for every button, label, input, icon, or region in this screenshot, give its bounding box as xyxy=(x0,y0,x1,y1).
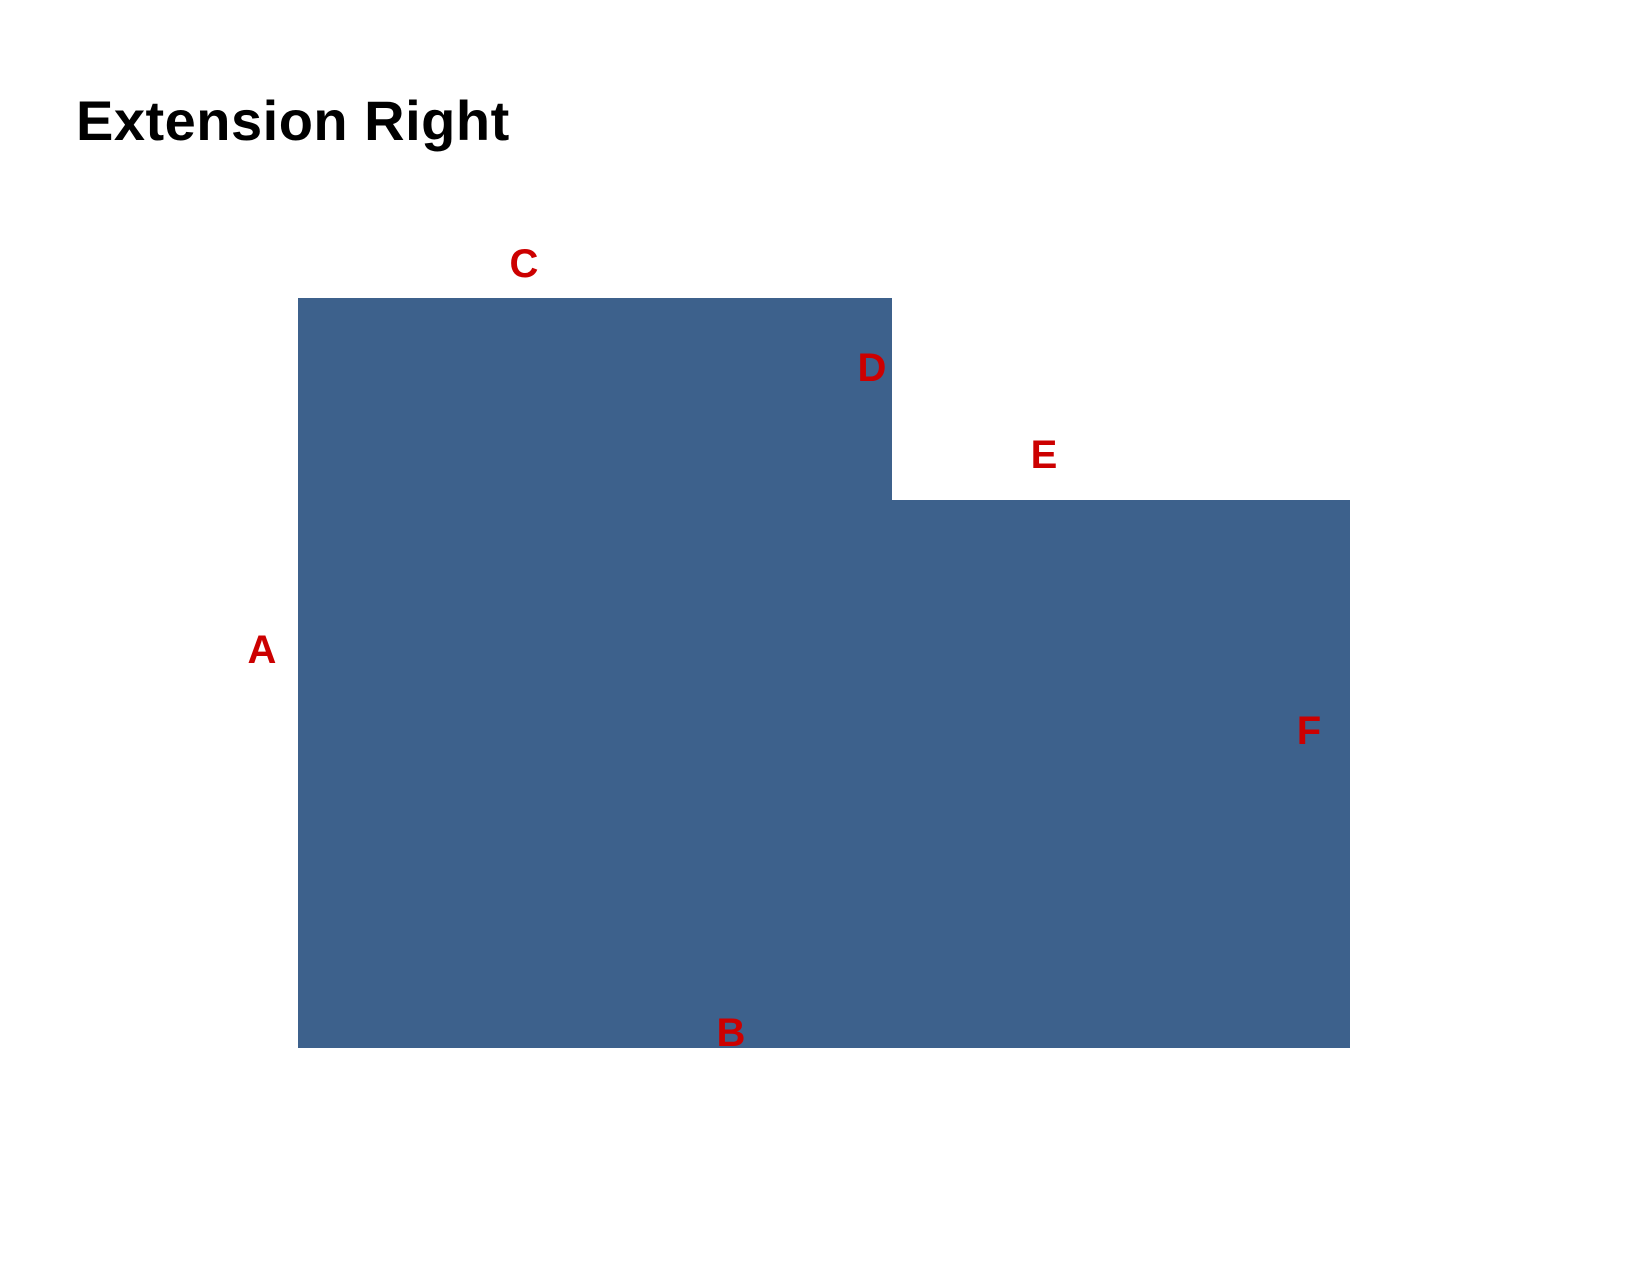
edge-label-d: D xyxy=(858,348,887,388)
edge-label-c: C xyxy=(510,244,539,284)
left-rectangle-shape xyxy=(298,298,892,1048)
edge-label-f: F xyxy=(1297,711,1321,751)
edge-label-e: E xyxy=(1031,435,1058,475)
edge-label-b: B xyxy=(717,1013,746,1053)
right-rectangle-shape xyxy=(891,500,1350,1048)
slide-canvas: Extension Right A B C D E F xyxy=(0,0,1650,1275)
edge-label-a: A xyxy=(248,630,277,670)
